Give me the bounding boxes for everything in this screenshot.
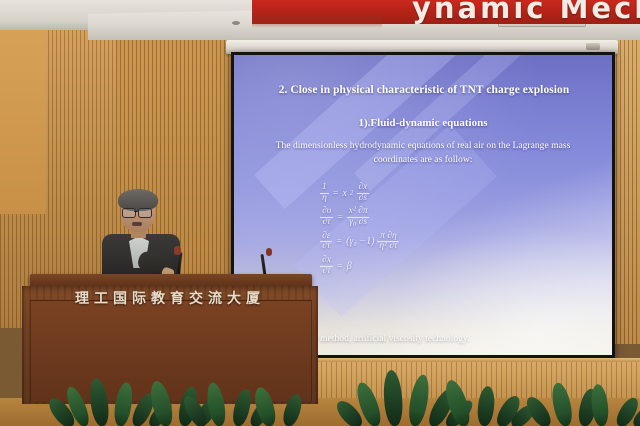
equals-sign: = [335, 236, 343, 247]
projector-glare-bottom [384, 225, 612, 355]
fraction-lhs: 1 η [320, 183, 329, 203]
numerator: ∂x [320, 256, 333, 266]
potted-plant [540, 374, 640, 426]
slide-body-text: The dimensionless hydrodynamic equations… [262, 139, 584, 166]
fraction-lhs: ∂ε ∂τ [320, 232, 332, 252]
denominator: ∂τ [320, 217, 332, 228]
denominator: ∂τ [320, 266, 332, 277]
potted-plant [196, 374, 306, 426]
denominator: η [320, 193, 329, 204]
microphone-head-secondary-icon [266, 248, 272, 256]
coefficient-exponent: 2 [350, 189, 354, 197]
screen-housing-knob[interactable] [586, 43, 600, 50]
equals-sign: = [332, 188, 340, 199]
banner-shadow [252, 16, 382, 28]
numerator: x² ∂π [347, 207, 370, 217]
equals-sign: = [336, 261, 344, 272]
microphone-head-icon [174, 246, 181, 255]
coefficient: x [342, 188, 346, 199]
fraction-lhs: ∂x ∂τ [320, 256, 333, 276]
glasses-bridge-icon [134, 211, 139, 212]
fraction-rhs: x² ∂π γ₀ ∂s [347, 207, 370, 227]
equals-sign: = [336, 212, 344, 223]
ceiling-fixture-icon [232, 21, 240, 25]
denominator: γ₀ ∂s [347, 217, 369, 228]
numerator: ∂x [356, 183, 369, 193]
equation-specific-volume: 1 η = x2 ∂x ∂s [320, 183, 540, 203]
fraction-lhs: ∂υ ∂τ [320, 207, 333, 227]
lecture-hall-scene: ynamic Mecha 2. Close in physical charac… [0, 0, 640, 426]
podium-sign-text: 理工国际教育交流大厦 [22, 288, 318, 308]
potted-plant [352, 358, 522, 426]
coefficient: β [347, 261, 352, 272]
numerator: 1 [320, 183, 329, 193]
hall-banner-text: ynamic Mecha [412, 0, 640, 24]
coefficient: (γ₀ −1) [346, 236, 374, 247]
numerator: ∂υ [320, 207, 333, 217]
denominator: ∂τ [320, 241, 332, 252]
numerator: ∂ε [320, 232, 332, 242]
glasses-left-lens-icon [122, 208, 136, 218]
presenter-mouth [132, 222, 142, 226]
glasses-right-lens-icon [138, 208, 152, 218]
wood-wall-left-flat [0, 14, 46, 214]
fraction-rhs: ∂x ∂s [356, 183, 369, 203]
denominator: ∂s [357, 193, 369, 204]
slide-title: 2. Close in physical characteristic of T… [238, 83, 610, 97]
slide-subtitle: 1).Fluid-dynamic equations [234, 117, 612, 129]
